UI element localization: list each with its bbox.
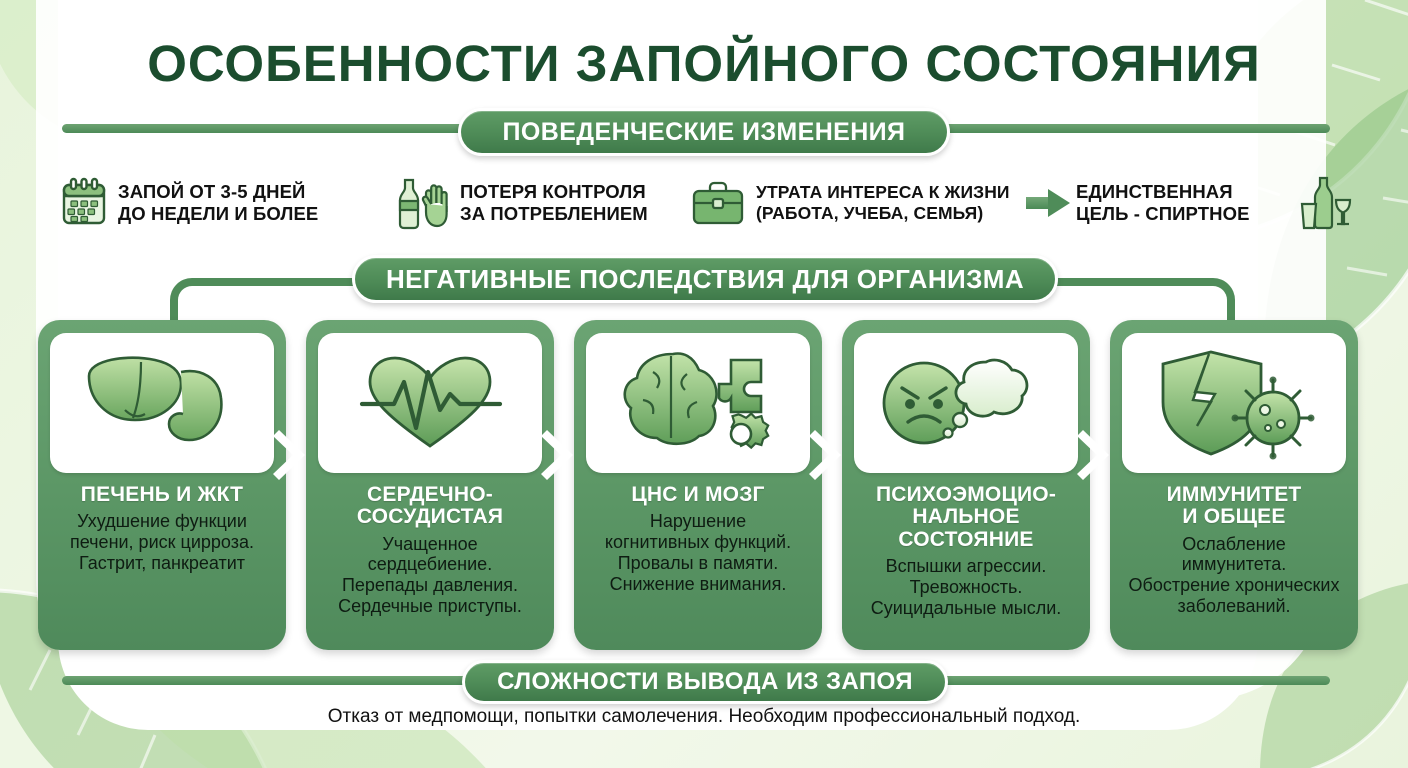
- card-title: ПСИХОЭМОЦИО- НАЛЬНОЕ СОСТОЯНИЕ: [876, 484, 1056, 551]
- banner-negative-consequences: НЕГАТИВНЫЕ ПОСЛЕДСТВИЯ ДЛЯ ОРГАНИЗМА: [352, 255, 1058, 303]
- banner-difficulties: СЛОЖНОСТИ ВЫВОДА ИЗ ЗАПОЯ: [462, 660, 948, 704]
- bottle-hand-icon: [390, 176, 450, 230]
- behavioral-item-label: УТРАТА ИНТЕРЕСА К ЖИЗНИ (РАБОТА, УЧЕБА, …: [756, 182, 1010, 223]
- card-connector-arrow-icon: [807, 428, 853, 482]
- brain-gear-icon: [613, 346, 783, 461]
- card-body: Учащенное сердцебиение. Перепады давлени…: [338, 534, 522, 618]
- liver-stomach-icon: [77, 348, 247, 458]
- footer-text: Отказ от медпомощи, попытки самолечения.…: [0, 706, 1408, 728]
- behavioral-item-label: ПОТЕРЯ КОНТРОЛЯ ЗА ПОТРЕБЛЕНИЕМ: [460, 181, 648, 225]
- behavioral-item-label: ЕДИНСТВЕННАЯ ЦЕЛЬ - СПИРТНОЕ: [1076, 181, 1250, 225]
- card-connector-arrow-icon: [271, 428, 317, 482]
- card-title: ПЕЧЕНЬ И ЖКТ: [81, 484, 243, 506]
- rule-left-bottom: [62, 676, 482, 685]
- card-cns-brain[interactable]: ЦНС И МОЗГ Нарушение когнитивных функций…: [574, 320, 822, 650]
- behavioral-items-row: ЗАПОЙ ОТ 3-5 ДНЕЙ ДО НЕДЕЛИ И БОЛЕЕ: [60, 162, 1360, 244]
- card-body: Ухудшение функции печени, риск цирроза. …: [70, 511, 254, 574]
- broken-shield-virus-icon: [1149, 346, 1319, 461]
- behavioral-item-label: ЗАПОЙ ОТ 3-5 ДНЕЙ ДО НЕДЕЛИ И БОЛЕЕ: [118, 181, 318, 225]
- banner-behavioral-changes: ПОВЕДЕНЧЕСКИЕ ИЗМЕНЕНИЯ: [458, 108, 950, 156]
- card-liver-gi[interactable]: ПЕЧЕНЬ И ЖКТ Ухудшение функции печени, р…: [38, 320, 286, 650]
- behavioral-item-binge-duration: ЗАПОЙ ОТ 3-5 ДНЕЙ ДО НЕДЕЛИ И БОЛЕЕ: [60, 177, 390, 229]
- card-psychoemotional[interactable]: ПСИХОЭМОЦИО- НАЛЬНОЕ СОСТОЯНИЕ Вспышки а…: [842, 320, 1090, 650]
- consequence-cards: ПЕЧЕНЬ И ЖКТ Ухудшение функции печени, р…: [38, 320, 1374, 650]
- card-immunity[interactable]: ИММУНИТЕТ И ОБЩЕЕ Ослабление иммунитета.…: [1110, 320, 1358, 650]
- card-icon-box: [318, 333, 542, 473]
- behavioral-item-loss-of-control: ПОТЕРЯ КОНТРОЛЯ ЗА ПОТРЕБЛЕНИЕМ: [390, 176, 690, 230]
- card-icon-box: [1122, 333, 1346, 473]
- card-icon-box: [586, 333, 810, 473]
- card-body: Вспышки агрессии. Тревожность. Суицидаль…: [871, 556, 1062, 619]
- rule-right-bottom: [930, 676, 1330, 685]
- card-body: Нарушение когнитивных функций. Провалы в…: [605, 511, 791, 595]
- rule-right-top: [930, 124, 1330, 133]
- rule-left-top: [62, 124, 482, 133]
- page-title: ОСОБЕННОСТИ ЗАПОЙНОГО СОСТОЯНИЯ: [0, 34, 1408, 93]
- arrow-right-icon: [1026, 189, 1070, 217]
- behavioral-item-only-goal: ЕДИНСТВЕННАЯ ЦЕЛЬ - СПИРТНОЕ: [1076, 181, 1296, 225]
- card-icon-box: [854, 333, 1078, 473]
- card-body: Ослабление иммунитета. Обострение хронич…: [1129, 534, 1340, 618]
- angry-face-thought-icon: [876, 348, 1056, 458]
- card-title: ИММУНИТЕТ И ОБЩЕЕ: [1167, 484, 1302, 529]
- behavioral-item-loss-of-interest: УТРАТА ИНТЕРЕСА К ЖИЗНИ (РАБОТА, УЧЕБА, …: [690, 179, 1020, 227]
- card-icon-box: [50, 333, 274, 473]
- heart-pulse-icon: [350, 348, 510, 458]
- card-connector-arrow-icon: [539, 428, 585, 482]
- calendar-icon: [60, 177, 108, 229]
- card-title: ЦНС И МОЗГ: [631, 484, 764, 506]
- bottle-glasses-icon: [1296, 172, 1358, 234]
- card-connector-arrow-icon: [1075, 428, 1121, 482]
- card-cardiovascular[interactable]: СЕРДЕЧНО- СОСУДИСТАЯ Учащенное сердцебие…: [306, 320, 554, 650]
- card-title: СЕРДЕЧНО- СОСУДИСТАЯ: [357, 484, 503, 529]
- briefcase-icon: [690, 179, 746, 227]
